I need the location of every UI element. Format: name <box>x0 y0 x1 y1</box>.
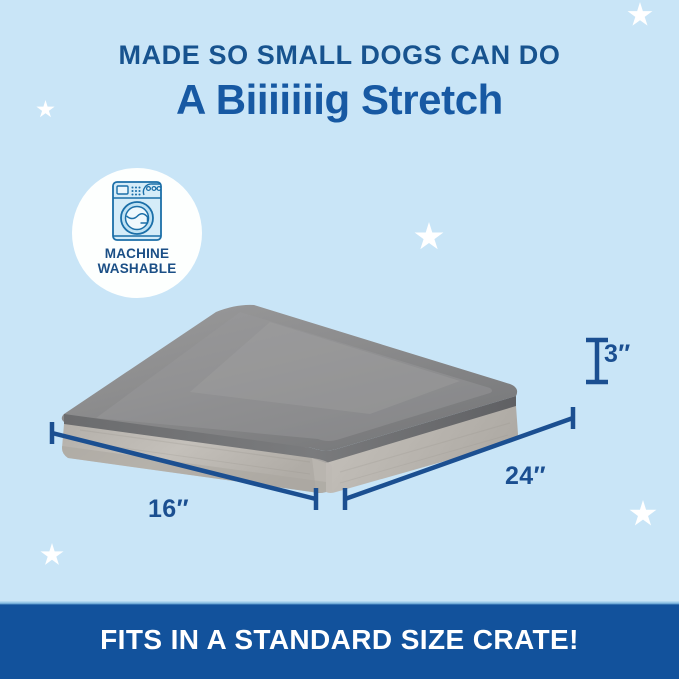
dimension-label-height: 3″ <box>604 340 631 369</box>
dimension-label-width: 16″ <box>148 495 189 524</box>
dimension-line-16 <box>52 433 316 499</box>
star-decoration <box>627 2 653 28</box>
banner-text: FITS IN A STANDARD SIZE CRATE! <box>100 624 579 656</box>
banner-top-highlight <box>0 601 679 605</box>
machine-washable-label: MACHINE WASHABLE <box>98 246 177 276</box>
headline-primary: MADE SO SMALL DOGS CAN DO <box>0 40 679 71</box>
headline-block: MADE SO SMALL DOGS CAN DO A Biiiiiiig St… <box>0 40 679 123</box>
dimension-label-length: 24″ <box>505 462 546 491</box>
star-decoration <box>414 222 444 252</box>
infographic-canvas: MADE SO SMALL DOGS CAN DO A Biiiiiiig St… <box>0 0 679 679</box>
headline-secondary: A Biiiiiiig Stretch <box>0 77 679 123</box>
dimension-annotations <box>0 296 679 556</box>
washing-machine-icon <box>110 180 164 242</box>
badge-label-line2: WASHABLE <box>98 261 177 276</box>
bottom-banner: FITS IN A STANDARD SIZE CRATE! <box>0 601 679 679</box>
badge-label-line1: MACHINE <box>98 246 177 261</box>
machine-washable-badge: MACHINE WASHABLE <box>72 168 202 298</box>
